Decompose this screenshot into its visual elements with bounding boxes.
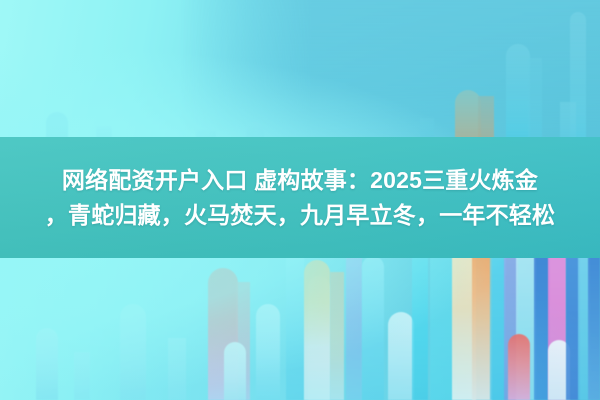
artwork-bar [412,250,428,400]
artwork-bar [560,102,576,140]
artwork-bar [472,250,492,400]
banner-image: 网络配资开户入口 虚构故事：2025三重火炼金 ，青蛇归藏，火马焚天，九月早立冬… [0,0,600,400]
headline-line-2: ，青蛇归藏，火马焚天，九月早立冬，一年不轻松 [0,199,600,232]
artwork-bar [74,352,90,400]
artwork-bar [304,260,330,400]
artwork-bar [120,304,146,400]
artwork-bar [224,342,246,400]
artwork-bar [506,44,530,140]
artwork-bar [36,328,58,400]
artwork-bar [330,272,344,400]
artwork-bar [388,312,414,400]
artwork-bar [508,334,530,400]
artwork-bar [46,112,68,140]
artwork-bar [528,58,542,140]
artwork-bar [478,96,494,140]
artwork-bar [346,250,362,400]
artwork-bar [286,250,304,400]
artwork-bar [168,338,186,400]
artwork-bar [588,250,600,400]
headline-caption: 网络配资开户入口 虚构故事：2025三重火炼金 ，青蛇归藏，火马焚天，九月早立冬… [0,137,600,258]
artwork-bar [362,256,384,400]
artwork-bar [256,304,280,400]
background-artwork-upper [0,0,600,140]
headline-line-1: 网络配资开户入口 虚构故事：2025三重火炼金 [62,164,538,197]
